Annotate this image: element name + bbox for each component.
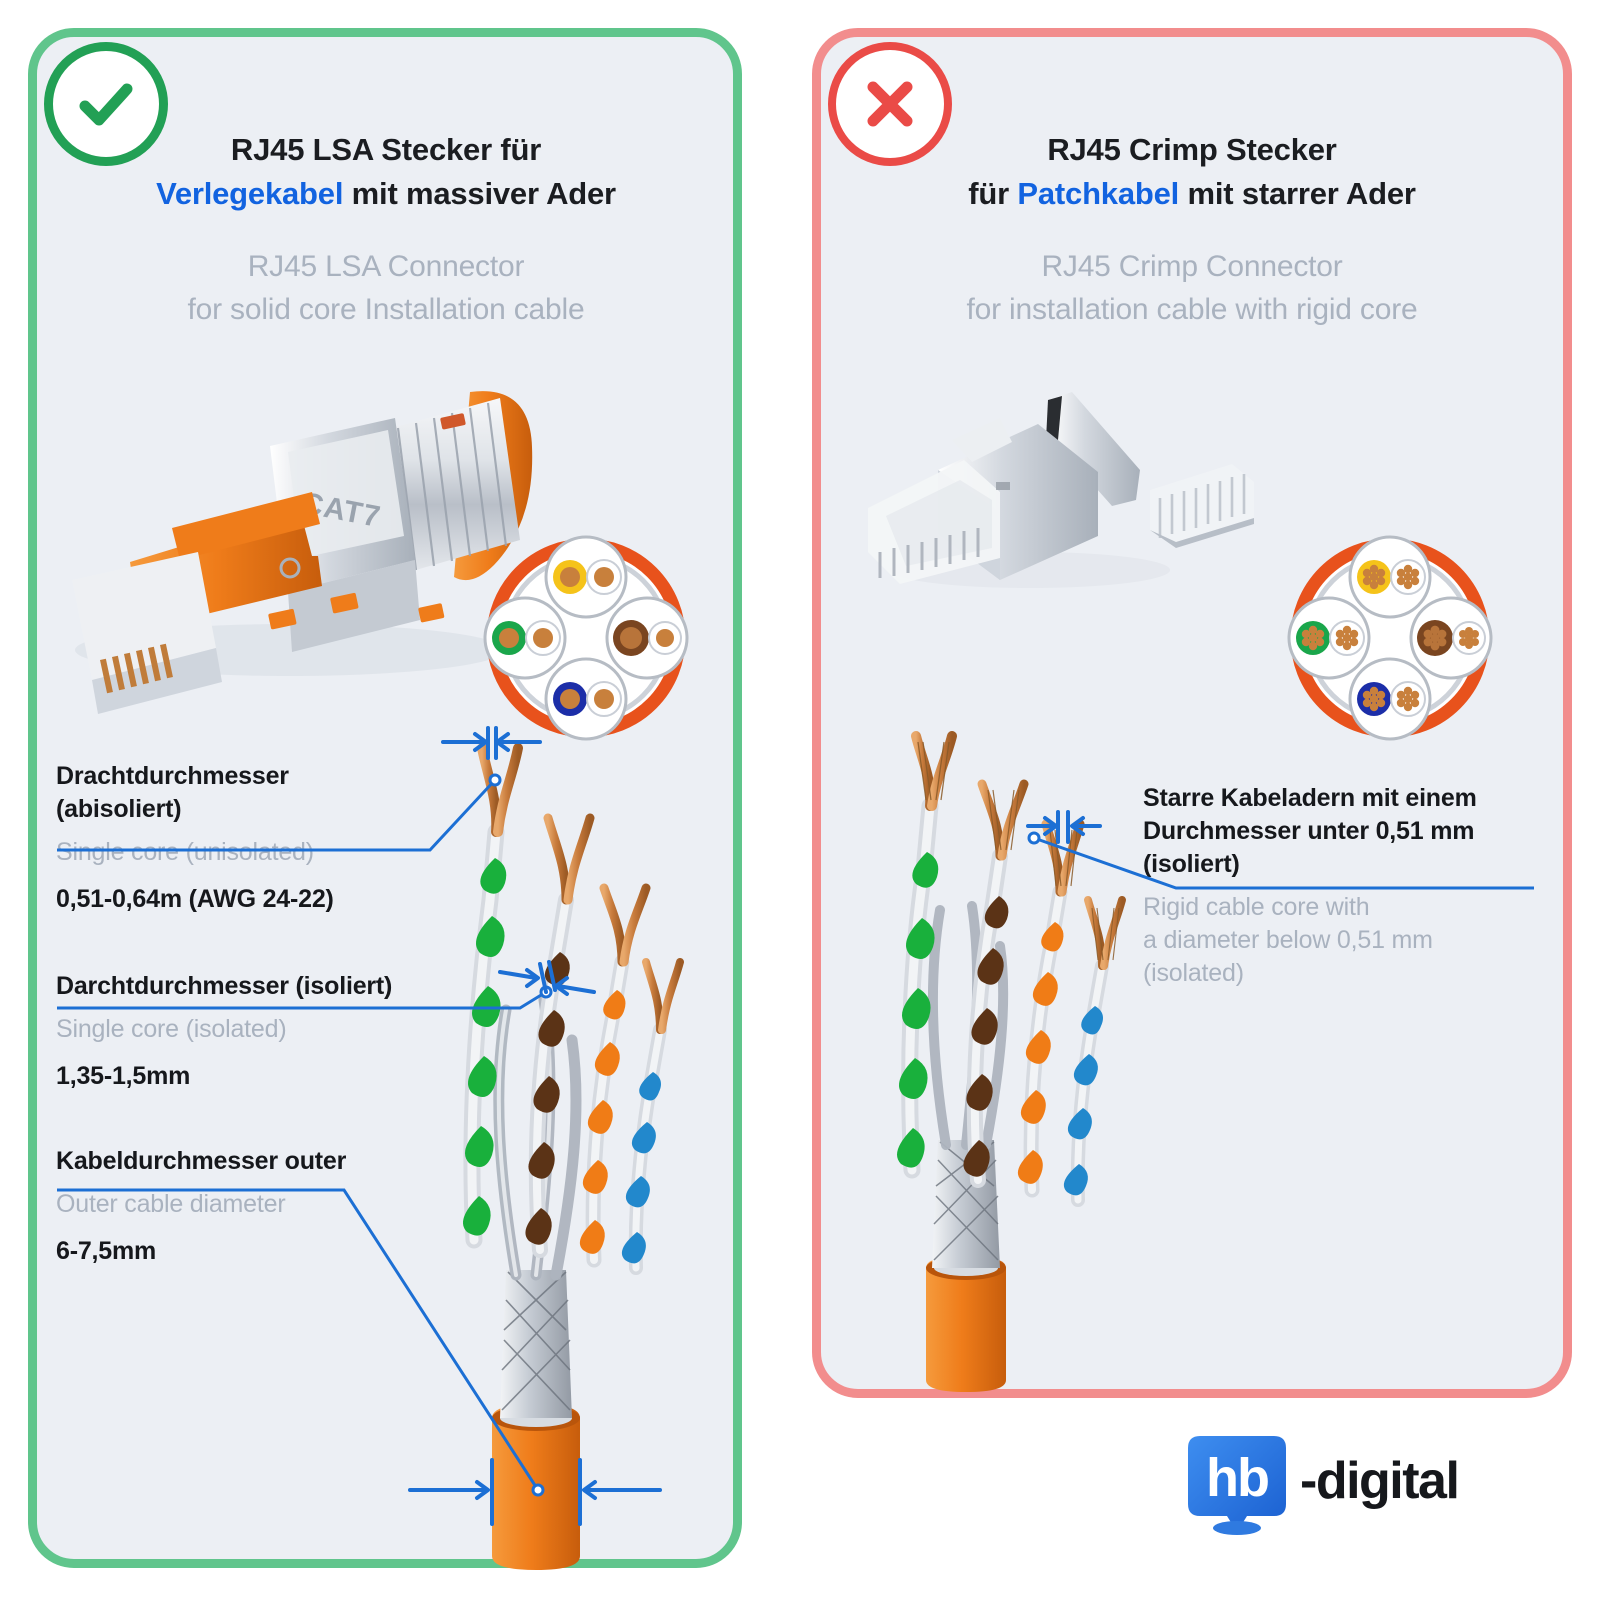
annotation-value: 1,35-1,5mm [56, 1062, 486, 1091]
annotation-de-text: Drachtdurchmesser (abisoliert) [56, 760, 456, 826]
left-title-de-highlight: Verlegekabel [156, 176, 343, 211]
annotation-de-text: Darchtdurchmesser (isoliert) [56, 970, 486, 1003]
right-title-de-highlight: Patchkabel [1017, 176, 1179, 211]
annotation-value: 6-7,5mm [56, 1237, 456, 1266]
annotation-rigid-cable-core: Starre Kabeladern mit einem Durchmesser … [1143, 782, 1543, 990]
annotation-de-text: Kabeldurchmesser outer [56, 1145, 456, 1178]
annotation-de-text: Starre Kabeladern mit einem Durchmesser … [1143, 782, 1543, 881]
annotation-value: 0,51-0,64m (AWG 24-22) [56, 885, 456, 914]
left-title-de-line1: RJ45 LSA Stecker für [231, 132, 541, 167]
right-title-de-line1: RJ45 Crimp Stecker [1047, 132, 1336, 167]
left-title-en-line1: RJ45 LSA Connector [248, 250, 525, 283]
right-panel-heading: RJ45 Crimp Stecker für Patchkabel mit st… [846, 128, 1538, 331]
annotation-single-core-isolated: Darchtdurchmesser (isoliert) Single core… [56, 970, 486, 1091]
right-title-de-suffix: mit starrer Ader [1179, 176, 1416, 211]
logo-word-text: -digital [1300, 1452, 1458, 1510]
right-title-en-line2: for installation cable with rigid core [967, 293, 1418, 326]
annotation-single-core-unisolated: Drachtdurchmesser (abisoliert) Single co… [56, 760, 456, 914]
logo-mark-text: hb [1206, 1448, 1268, 1508]
right-title-en-line1: RJ45 Crimp Connector [1041, 250, 1342, 283]
left-title-en-line2: for solid core Installation cable [188, 293, 585, 326]
left-panel-heading: RJ45 LSA Stecker für Verlegekabel mit ma… [66, 128, 706, 331]
annotation-en-text: Single core (isolated) [56, 1013, 486, 1046]
hb-digital-logo: hb -digital [1188, 1436, 1458, 1535]
annotation-en-text: Rigid cable core with a diameter below 0… [1143, 891, 1543, 990]
right-title-de-prefix: für [968, 176, 1017, 211]
infographic-board: RJ45 LSA Stecker für Verlegekabel mit ma… [0, 0, 1600, 1600]
annotation-en-text: Outer cable diameter [56, 1188, 456, 1221]
annotation-en-text: Single core (unisolated) [56, 836, 456, 869]
left-title-de-suffix: mit massiver Ader [343, 176, 616, 211]
annotation-outer-cable-diameter: Kabeldurchmesser outer Outer cable diame… [56, 1145, 456, 1266]
